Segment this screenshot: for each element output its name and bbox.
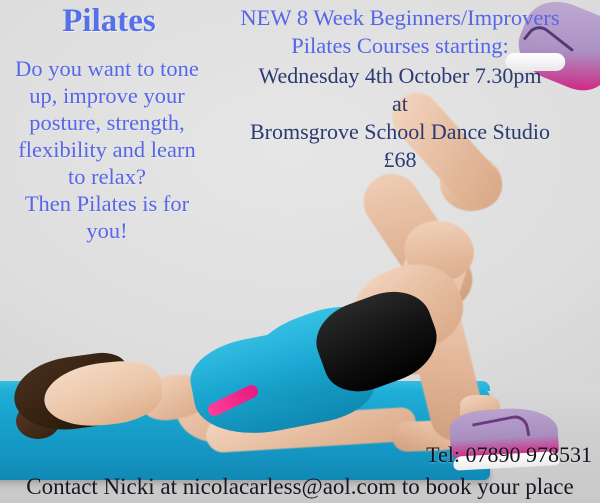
pilates-poster: Pilates Do you want to tone up, improve … (0, 0, 600, 503)
course-price: £68 (200, 146, 600, 174)
course-details-block: Wednesday 4th October 7.30pm at Bromsgro… (200, 62, 600, 175)
left-copy-line-2: up, improve your (0, 82, 218, 109)
left-copy-line-5: to relax? (0, 163, 218, 190)
course-heading-block: NEW 8 Week Beginners/Improvers Pilates C… (200, 4, 600, 61)
left-copy-line-6: Then Pilates is for (0, 190, 218, 217)
left-copy-line-3: posture, strength, (0, 109, 218, 136)
course-venue: Bromsgrove School Dance Studio (200, 118, 600, 146)
course-heading-line-1: NEW 8 Week Beginners/Improvers (200, 4, 600, 32)
left-copy-line-4: flexibility and learn (0, 136, 218, 163)
left-copy-line-1: Do you want to tone (0, 55, 218, 82)
course-heading-line-2: Pilates Courses starting: (200, 32, 600, 60)
telephone-text: Tel: 07890 978531 (292, 442, 592, 468)
page-title: Pilates (0, 4, 218, 39)
course-at-word: at (200, 90, 600, 118)
left-copy-line-7: you! (0, 217, 218, 244)
left-copy-block: Do you want to tone up, improve your pos… (0, 55, 218, 244)
course-datetime: Wednesday 4th October 7.30pm (200, 62, 600, 90)
contact-line: Contact Nicki at nicolacarless@aol.com t… (0, 474, 600, 500)
